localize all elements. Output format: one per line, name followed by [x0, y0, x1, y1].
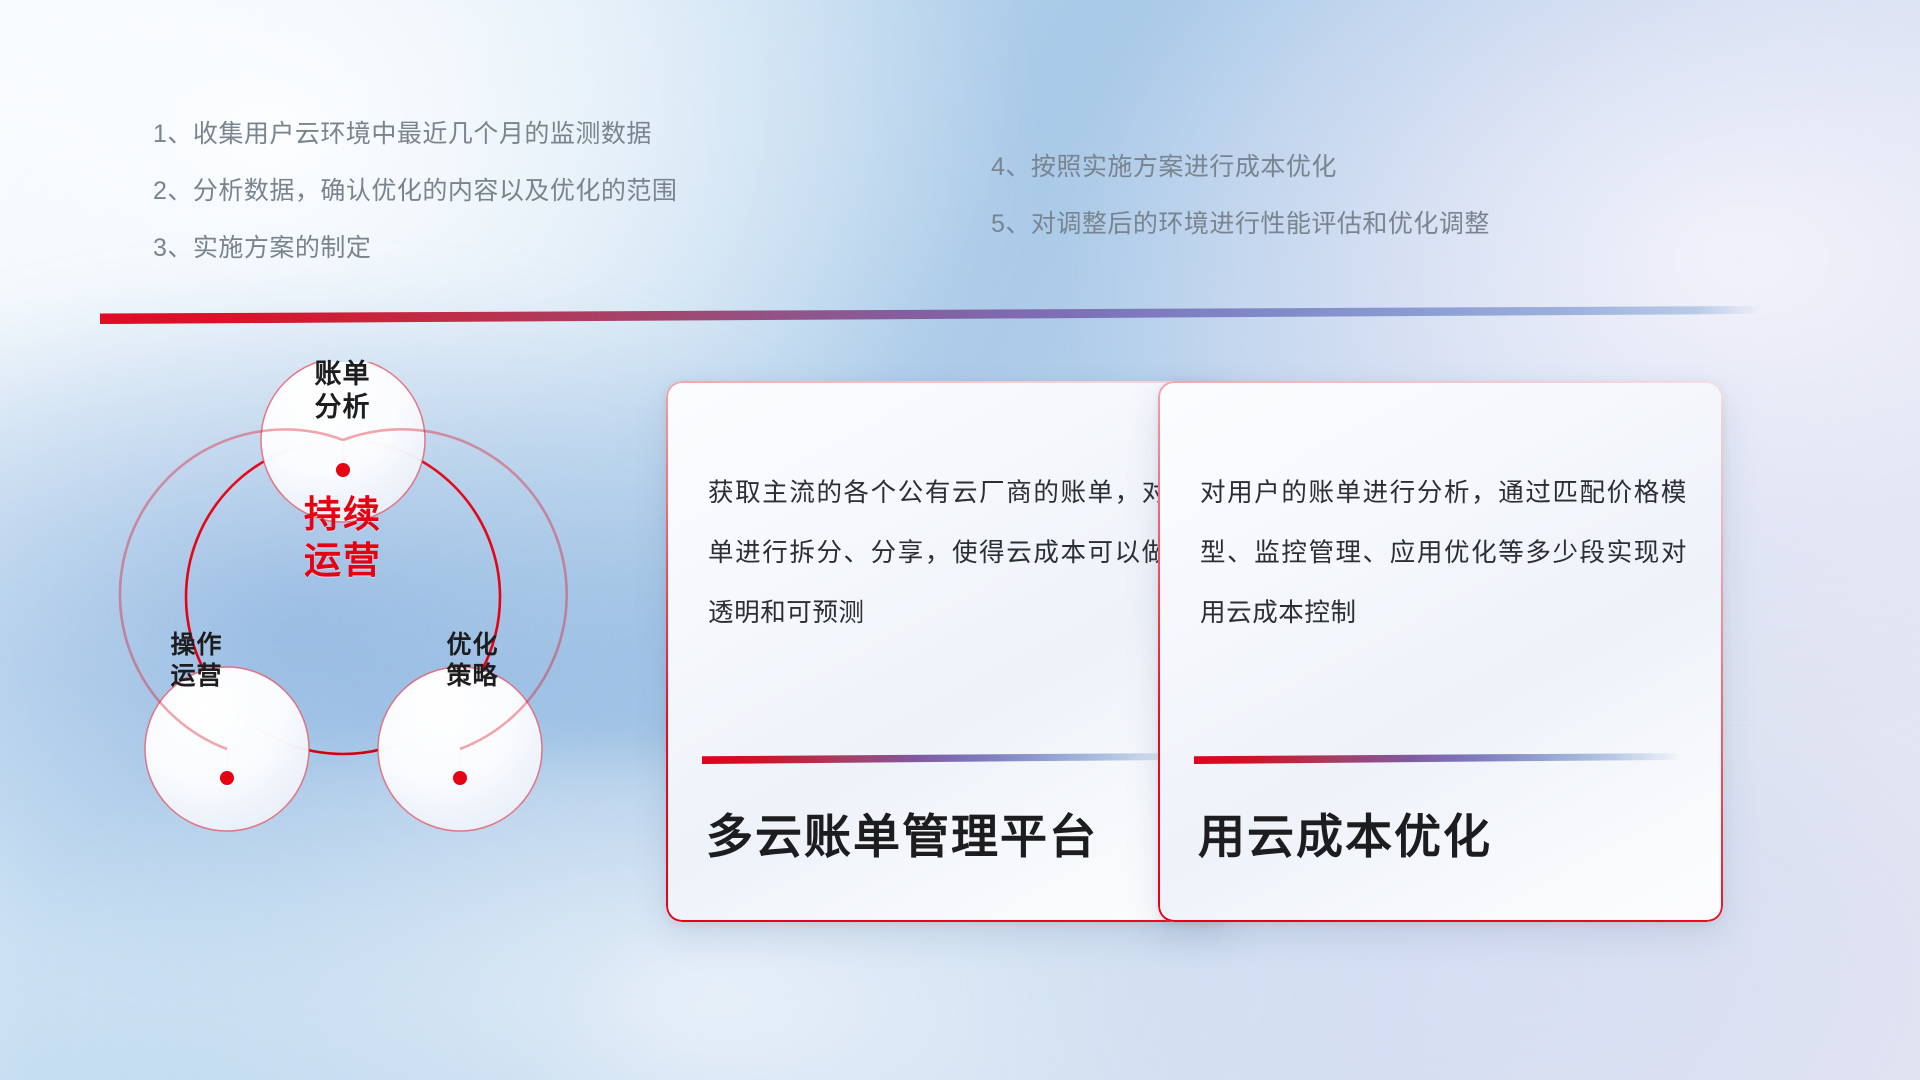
- divider-gradient-bar: [100, 306, 1760, 324]
- card-title: 用云成本优化: [1198, 809, 1693, 865]
- diagram-center-label: 持续 运营: [233, 492, 453, 584]
- slide-canvas: 1、收集用户云环境中最近几个月的监测数据 2、分析数据，确认优化的内容以及优化的…: [0, 0, 1920, 1080]
- steps-list-left: 1、收集用户云环境中最近几个月的监测数据 2、分析数据，确认优化的内容以及优化的…: [153, 122, 677, 293]
- step-item-5: 5、对调整后的环境进行性能评估和优化调整: [991, 212, 1490, 237]
- feature-card-cloud-cost-optimization[interactable]: 对用户的账单进行分析，通过匹配价格模型、监控管理、应用优化等多少段实现对用云成本…: [1158, 381, 1723, 922]
- card-accent-rule: [1194, 753, 1682, 764]
- card-accent-rule: [702, 753, 1190, 764]
- step-item-3: 3、实施方案的制定: [153, 236, 677, 261]
- card-description: 对用户的账单进行分析，通过匹配价格模型、监控管理、应用优化等多少段实现对用云成本…: [1200, 464, 1687, 644]
- diagram-node-label-optimization-strategy: 优化 策略: [385, 630, 560, 691]
- feature-card-multi-cloud-billing-platform[interactable]: 获取主流的各个公有云厂商的账单，对账单进行拆分、分享，使得云成本可以做到透明和可…: [666, 381, 1231, 922]
- node-dot-right: [453, 771, 467, 785]
- node-dot-left: [220, 771, 234, 785]
- card-description: 获取主流的各个公有云厂商的账单，对账单进行拆分、分享，使得云成本可以做到透明和可…: [708, 464, 1195, 644]
- step-item-1: 1、收集用户云环境中最近几个月的监测数据: [153, 122, 677, 147]
- steps-list-right: 4、按照实施方案进行成本优化 5、对调整后的环境进行性能评估和优化调整: [991, 155, 1490, 269]
- diagram-node-label-billing-analysis: 账单 分析: [255, 358, 430, 424]
- continuous-operations-diagram: 账单 分析 操作 运营 优化 策略 持续 运营: [85, 362, 645, 942]
- step-item-4: 4、按照实施方案进行成本优化: [991, 155, 1490, 180]
- diagram-node-label-operations: 操作 运营: [109, 630, 284, 691]
- node-dot-top: [336, 463, 350, 477]
- section-divider: [100, 306, 1760, 324]
- card-title: 多云账单管理平台: [706, 809, 1201, 865]
- step-item-2: 2、分析数据，确认优化的内容以及优化的范围: [153, 179, 677, 204]
